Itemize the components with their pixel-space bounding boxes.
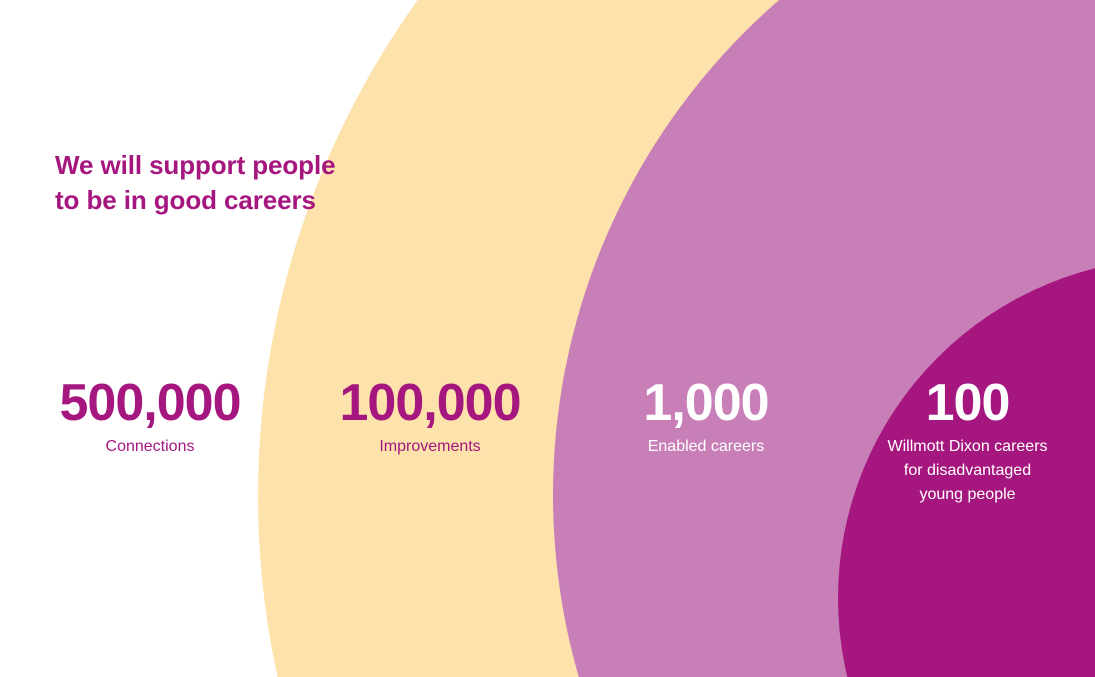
stat-improvements-number: 100,000 bbox=[310, 375, 550, 431]
stat-improvements-label: Improvements bbox=[310, 435, 550, 459]
stat-enabled-careers-label: Enabled careers bbox=[600, 435, 812, 459]
stat-enabled-careers: 1,000 Enabled careers bbox=[600, 375, 812, 459]
infographic-canvas: We will support people to be in good car… bbox=[0, 0, 1095, 677]
stat-improvements: 100,000 Improvements bbox=[310, 375, 550, 459]
stat-willmott-dixon-careers-label: Willmott Dixon careers for disadvantaged… bbox=[855, 435, 1080, 507]
page-title: We will support people to be in good car… bbox=[55, 148, 455, 218]
stat-connections-label: Connections bbox=[30, 435, 270, 459]
stat-connections-number: 500,000 bbox=[30, 375, 270, 431]
stat-connections: 500,000 Connections bbox=[30, 375, 270, 459]
page-title-line-2: to be in good careers bbox=[55, 183, 455, 218]
stat-willmott-label-line-2: for disadvantaged bbox=[855, 459, 1080, 483]
stat-willmott-label-line-1: Willmott Dixon careers bbox=[855, 435, 1080, 459]
stat-willmott-label-line-3: young people bbox=[855, 483, 1080, 507]
stat-enabled-careers-number: 1,000 bbox=[600, 375, 812, 431]
page-title-line-1: We will support people bbox=[55, 148, 455, 183]
stat-willmott-dixon-careers: 100 Willmott Dixon careers for disadvant… bbox=[855, 375, 1080, 507]
stat-willmott-dixon-careers-number: 100 bbox=[855, 375, 1080, 431]
